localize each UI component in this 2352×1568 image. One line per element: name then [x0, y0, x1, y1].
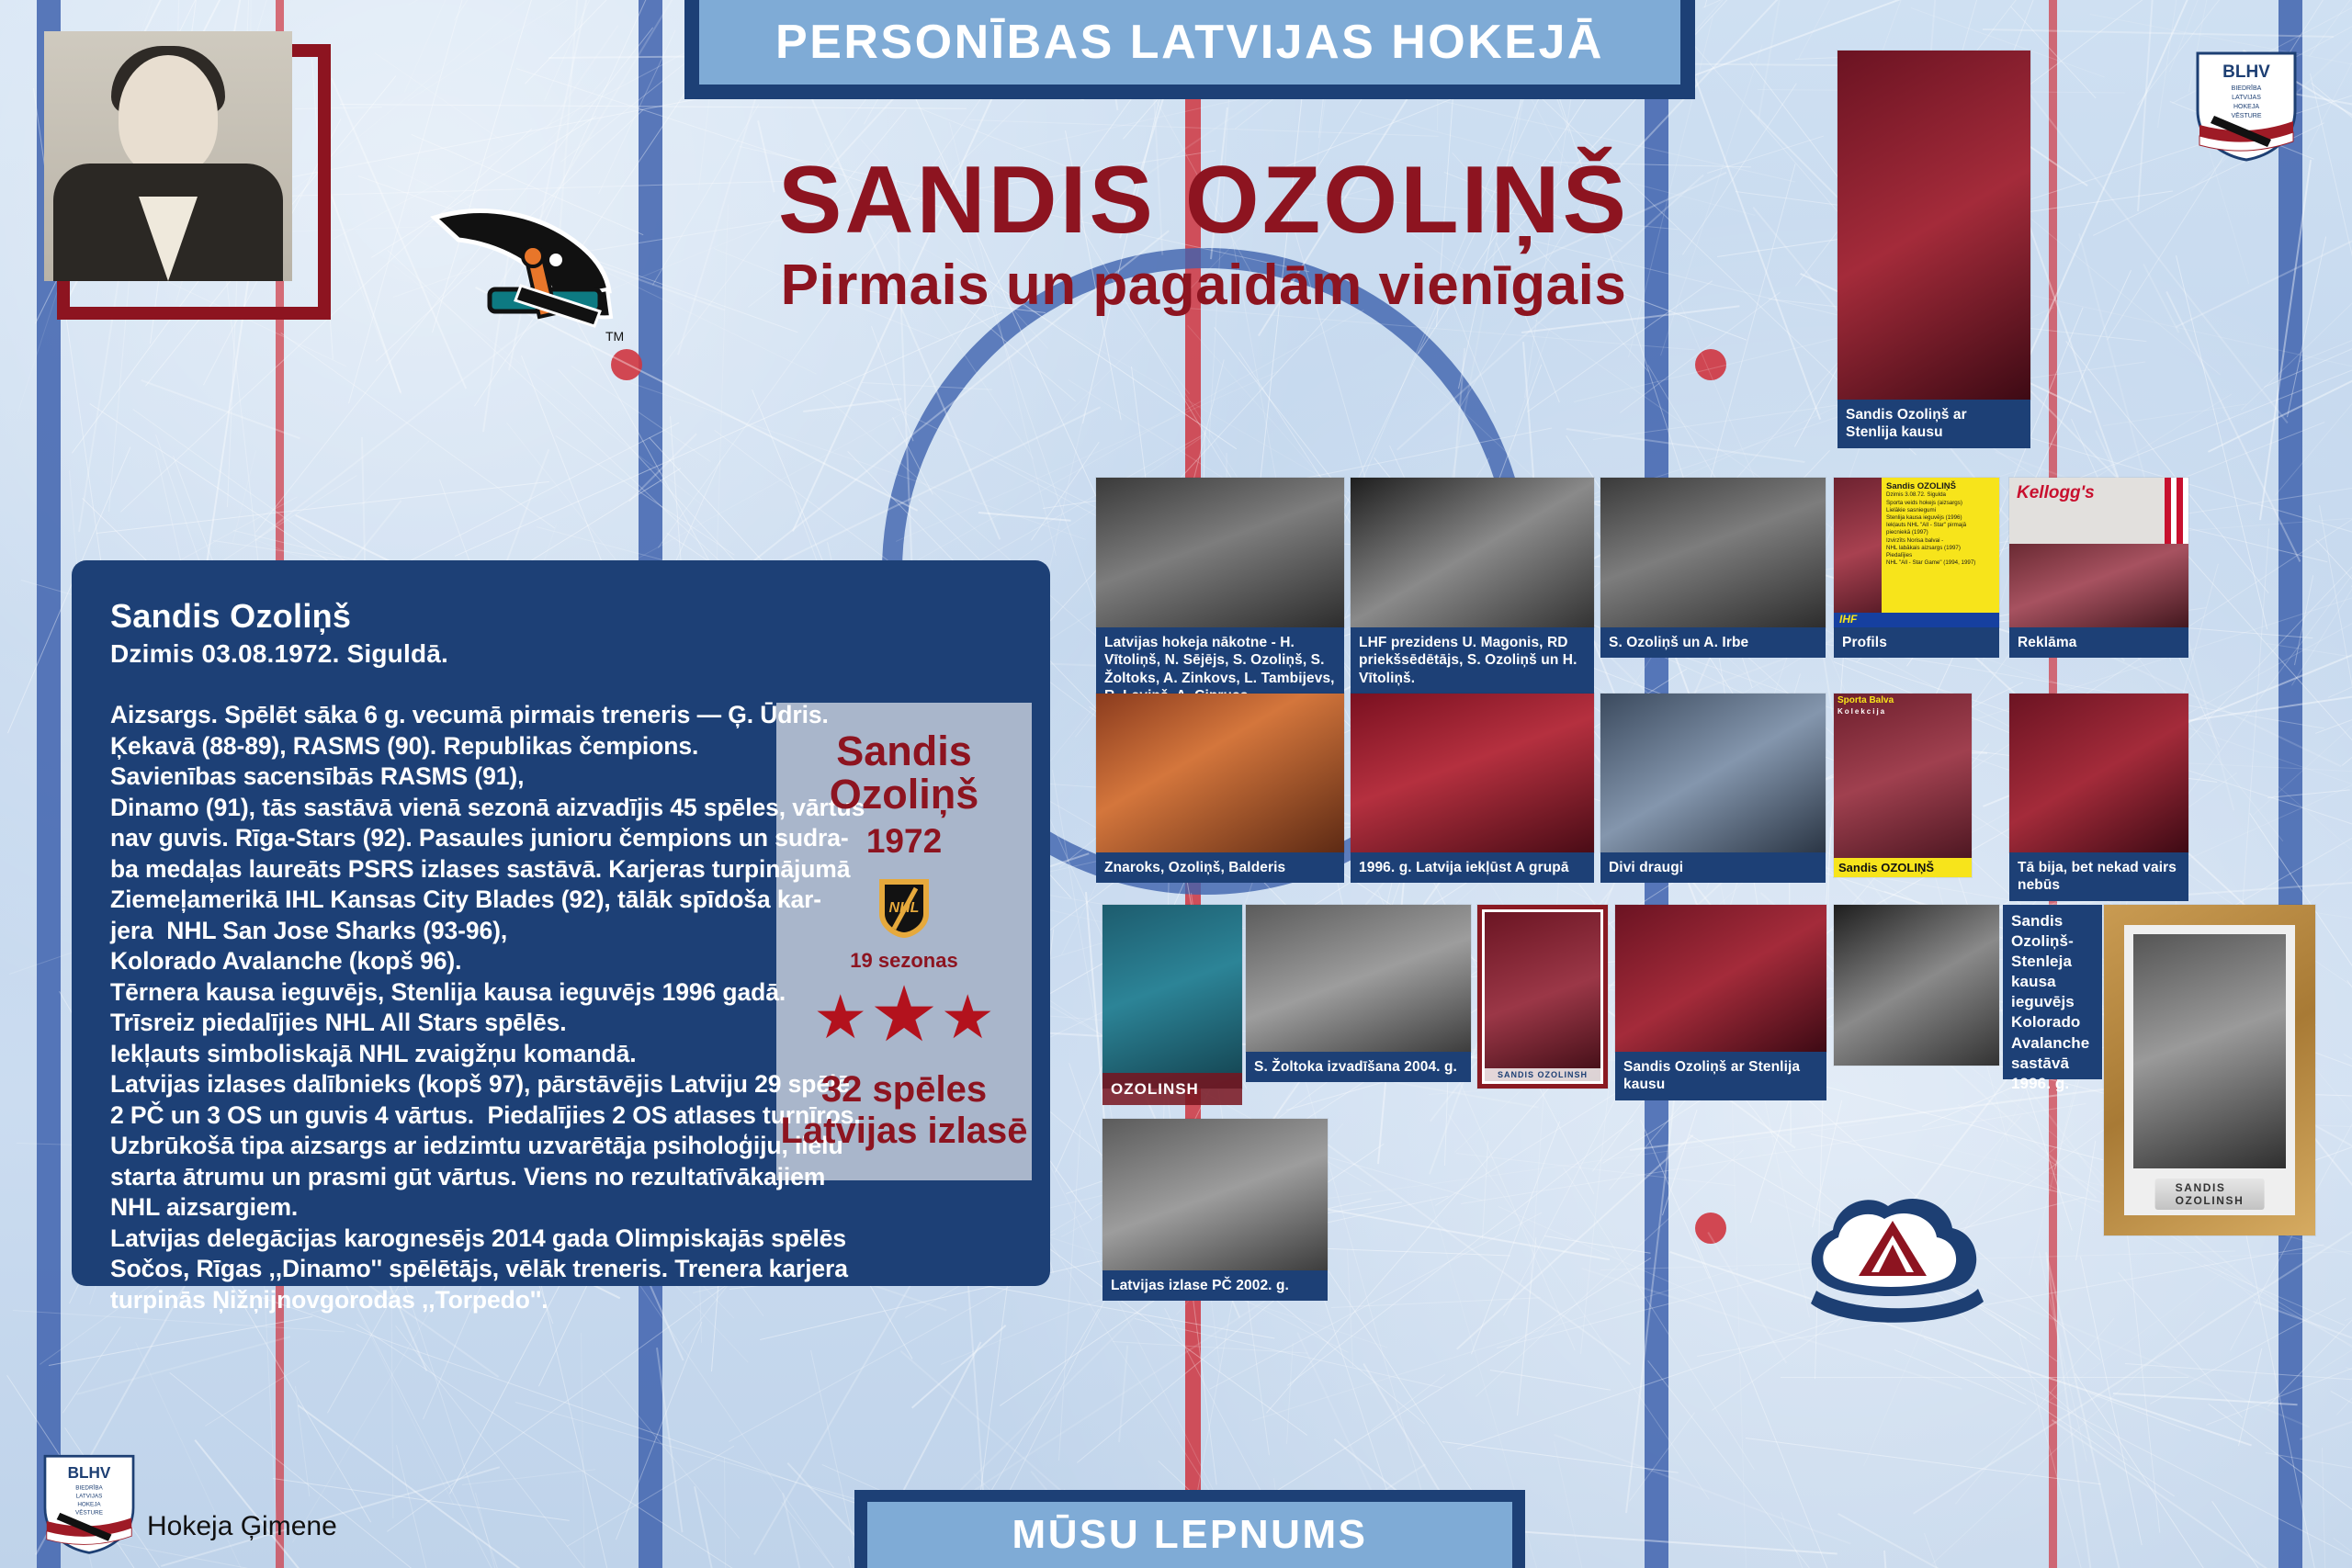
profile-card-line: Stenlija kausa ieguvējs (1996) [1886, 514, 1996, 522]
photo-caption: Sandis Ozoliņš ar Stenlija kausu [1837, 400, 2030, 448]
bio-born: Dzimis 03.08.1972. Siguldā. [110, 639, 1012, 669]
photo-image [1246, 905, 1471, 1052]
photo-caption: S. Žoltoka izvadīšana 2004. g. [1246, 1052, 1471, 1082]
photo-image: Sandis OZOLIŅŠ Dzimis 3.08.72. SiguldaSp… [1834, 478, 1999, 627]
sk-photo [1834, 694, 1972, 877]
faceoff-dot-2 [1695, 349, 1726, 380]
photo-tile-sharks-card: OZOLINSH [1102, 905, 1242, 1089]
photo-tile-two-friends: Divi draugi [1600, 694, 1826, 852]
profile-card: Sandis OZOLIŅŠ Dzimis 3.08.72. SiguldaSp… [1834, 478, 1999, 627]
profile-card-photo [1834, 478, 1882, 627]
photo-image [1837, 51, 2030, 400]
stats-games-line2: Latvijas izlasē [780, 1111, 1027, 1152]
photo-image [1102, 905, 1242, 1089]
faceoff-dot-1 [611, 349, 642, 380]
svg-text:BLHV: BLHV [2222, 62, 2270, 82]
stats-card: Sandis Ozoliņš 1972 NHL 19 sezonas ★ ★ ★… [776, 703, 1032, 1180]
san-jose-sharks-logo-icon: TM [418, 161, 629, 344]
wooden-frame-plate: SANDIS OZOLINSH [2155, 1179, 2265, 1210]
profile-card-line: piecniekā (1997) [1886, 529, 1996, 536]
profile-card-line: Sporta veids hokejs (aizsargs) [1886, 500, 1996, 507]
ihf-logo-icon [1834, 613, 1999, 627]
header-banner: PERSONĪBAS LATVIJAS HOKEJĀ [699, 0, 1680, 85]
photo-image: Sporta Balva Kolekcija Sandis OZOLIŅŠ [1834, 694, 1972, 877]
photo-tile-latvia-group-a-1996: 1996. g. Latvija iekļūst A grupā [1351, 694, 1594, 852]
photo-image: SANDIS OZOLINSH [1477, 905, 1608, 1089]
profile-card-line: NHL labākais aizsargs (1997) [1886, 545, 1996, 552]
star-icon-3: ★ [941, 993, 995, 1042]
svg-text:VĒSTURE: VĒSTURE [75, 1509, 103, 1517]
kelloggs-people [2009, 544, 2188, 627]
profile-card-name: Sandis OZOLIŅŠ [1886, 482, 1996, 491]
svg-text:BIEDRĪBA: BIEDRĪBA [75, 1484, 103, 1492]
bio-name: Sandis Ozoliņš [110, 597, 1012, 636]
sk-top-label-2: Kolekcija [1837, 708, 1886, 716]
svg-text:HOKEJA: HOKEJA [2233, 104, 2259, 110]
photo-tile-stanley-cup-top: Sandis Ozoliņš ar Stenlija kausu [1837, 51, 2030, 400]
svg-text:LATVIJAS: LATVIJAS [76, 1494, 103, 1500]
photo-image [1834, 905, 1999, 1066]
photo-tile-avalanche-card: SANDIS OZOLINSH [1477, 905, 1608, 1089]
photo-caption: Znaroks, Ozoliņš, Balderis [1096, 852, 1344, 883]
stats-seasons: 19 sezonas [850, 949, 957, 973]
bio-line: turpinās Ņižņijnovgorodas ,,Torpedo''. [110, 1285, 1012, 1316]
svg-text:NHL: NHL [889, 900, 920, 916]
hokeja-gimene-label: Hokeja Ģimene [147, 1511, 337, 1542]
profile-card-line: Lielākie sasniegumi [1886, 507, 1996, 514]
profile-card-line: Izvirzīts Norisa balvai - [1886, 537, 1996, 545]
photo-caption-colorado-side: Sandis Ozoliņš- Stenleja kausa ieguvējs … [2003, 905, 2102, 1079]
blhv-logo-top-icon: BLHV BIEDRĪBA LATVIJAS HOKEJA VĒSTURE [2187, 46, 2306, 164]
photo-image [1600, 478, 1826, 627]
avalanche-card-photo: SANDIS OZOLINSH [1482, 909, 1603, 1084]
colorado-avalanche-logo-icon [1796, 1180, 1994, 1332]
stats-games-line1: 32 spēles [821, 1069, 987, 1111]
photo-tile-latvia-team-2002: Latvijas izlase PČ 2002. g. [1102, 1119, 1328, 1270]
title-main: SANDIS OZOLIŅŠ [698, 152, 1709, 249]
wooden-frame-inner: SANDIS OZOLINSH [2124, 925, 2295, 1215]
photo-tile-sports-kolekcija: Sporta Balva Kolekcija Sandis OZOLIŅŠ [1834, 694, 1972, 877]
photo-caption: Tā bija, bet nekad vairs nebūs [2009, 852, 2188, 901]
photo-image [1102, 1119, 1328, 1270]
photo-image: Kellogg's [2009, 478, 2188, 627]
svg-text:TM: TM [605, 329, 624, 344]
bio-line: Sočos, Rīgas ,,Dinamo'' spēlētājs, vēlāk… [110, 1254, 1012, 1285]
photo-tile-latvian-hockey-future: Latvijas hokeja nākotne - H. Vītoliņš, N… [1096, 478, 1344, 627]
photo-image [1351, 694, 1594, 852]
photo-tile-ozolins-irbe: S. Ozoliņš un A. Irbe [1600, 478, 1826, 627]
profile-card-line: Piedalījies [1886, 552, 1996, 559]
blhv-logo-bottom-icon: BLHV BIEDRĪBA LATVIJAS HOKEJA VĒSTURE [35, 1450, 143, 1556]
profile-card-lines: Dzimis 3.08.72. SiguldaSporta veids hoke… [1886, 491, 1996, 567]
photo-caption: LHF prezidens U. Magonis, RD priekšsēdēt… [1351, 627, 1594, 694]
stats-stars: ★ ★ ★ [813, 993, 995, 1055]
header-banner-label: PERSONĪBAS LATVIJAS HOKEJĀ [775, 15, 1604, 70]
kelloggs-ad: Kellogg's [2009, 478, 2188, 627]
stats-birth-year: 1972 [866, 822, 942, 861]
portrait-face [119, 55, 218, 176]
svg-text:BIEDRĪBA: BIEDRĪBA [2232, 85, 2262, 92]
photo-image [1615, 905, 1826, 1052]
photo-tile-profile-card: Sandis OZOLIŅŠ Dzimis 3.08.72. SiguldaSp… [1834, 478, 1999, 627]
rink-blue-line-right [2278, 0, 2302, 1568]
photo-tile-znaroks-ozolins-balderis: Znaroks, Ozoliņš, Balderis [1096, 694, 1344, 852]
nhl-logo-icon: NHL [876, 875, 933, 942]
photo-image [1351, 478, 1594, 627]
portrait-photo [44, 31, 292, 281]
svg-text:HOKEJA: HOKEJA [77, 1502, 101, 1508]
profile-card-line: NHL "All - Star Game" (1994, 1997) [1886, 559, 1996, 567]
photo-tile-that-was-never-again: Tā bija, bet nekad vairs nebūs [2009, 694, 2188, 852]
photo-tile-skating-bw [1834, 905, 1999, 1066]
stats-name-line2: Ozoliņš [830, 773, 979, 817]
kelloggs-logo-icon: Kellogg's [2017, 483, 2095, 503]
star-icon-2: ★ [869, 984, 938, 1045]
profile-card-text: Sandis OZOLIŅŠ Dzimis 3.08.72. SiguldaSp… [1882, 478, 1999, 627]
photo-tile-zoltoks-funeral: S. Žoltoka izvadīšana 2004. g. [1246, 905, 1471, 1052]
photo-image [1096, 478, 1344, 627]
photo-caption: Reklāma [2009, 627, 2188, 658]
faceoff-dot-3 [1695, 1213, 1726, 1244]
bio-line: Latvijas delegācijas karognesējs 2014 ga… [110, 1224, 1012, 1255]
avalanche-card-name: SANDIS OZOLINSH [1485, 1068, 1600, 1081]
photo-tile-wooden-frame: SANDIS OZOLINSH [2104, 905, 2315, 1235]
photo-image [2009, 694, 2188, 852]
photo-caption: Latvijas izlase PČ 2002. g. [1102, 1270, 1328, 1301]
photo-image: SANDIS OZOLINSH [2104, 905, 2315, 1235]
poster-root: PERSONĪBAS LATVIJAS HOKEJĀ SANDIS OZOLIŅ… [0, 0, 2352, 1568]
photo-tile-kelloggs-ad: Kellogg's Reklāma [2009, 478, 2188, 627]
profile-card-line: Iekļauts NHL "All - Star" pirmajā [1886, 522, 1996, 529]
page-title: SANDIS OZOLIŅŠ Pirmais un pagaidām vienī… [698, 152, 1709, 318]
star-icon-1: ★ [813, 993, 867, 1042]
avalanche-trading-card: SANDIS OZOLINSH [1477, 905, 1608, 1089]
sports-kolekcija-card: Sporta Balva Kolekcija Sandis OZOLIŅŠ [1834, 694, 1972, 877]
stats-name-line1: Sandis [836, 730, 972, 773]
footer-banner-label: MŪSU LEPNUMS [1012, 1512, 1368, 1558]
photo-caption: OZOLINSH [1102, 1073, 1242, 1105]
photo-caption: S. Ozoliņš un A. Irbe [1600, 627, 1826, 658]
photo-caption: Divi draugi [1600, 852, 1826, 883]
profile-card-line: Dzimis 3.08.72. Sigulda [1886, 491, 1996, 499]
photo-tile-lhf-president: LHF prezidens U. Magonis, RD priekšsēdēt… [1351, 478, 1594, 627]
photo-tile-stanley-cup-row3: Sandis Ozoliņš ar Stenlija kausu [1615, 905, 1826, 1052]
photo-caption: Profils [1834, 627, 1999, 658]
photo-caption: 1996. g. Latvija iekļūst A grupā [1351, 852, 1594, 883]
svg-text:LATVIJAS: LATVIJAS [2232, 95, 2261, 101]
svg-text:BLHV: BLHV [68, 1463, 111, 1482]
footer-banner: MŪSU LEPNUMS [867, 1502, 1512, 1568]
wooden-frame-photo [2133, 934, 2286, 1168]
wooden-frame-card: SANDIS OZOLINSH [2104, 905, 2315, 1235]
photo-image [1096, 694, 1344, 852]
title-subtitle: Pirmais un pagaidām vienīgais [698, 253, 1709, 318]
photo-caption: Sandis Ozoliņš ar Stenlija kausu [1615, 1052, 1826, 1100]
svg-text:VĒSTURE: VĒSTURE [2231, 112, 2261, 119]
sk-name-label: Sandis OZOLIŅŠ [1834, 858, 1972, 877]
bio-line: NHL aizsargiem. [110, 1192, 1012, 1224]
photo-image [1600, 694, 1826, 852]
sk-top-label-1: Sporta Balva [1837, 696, 1894, 705]
